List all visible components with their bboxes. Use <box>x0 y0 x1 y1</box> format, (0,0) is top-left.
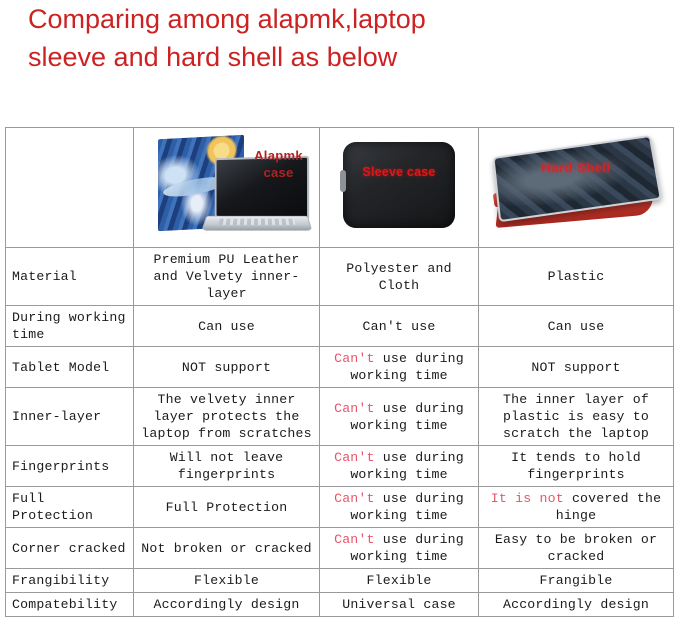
product-label-hardshell: Hard Shell <box>483 159 669 176</box>
table-cell: Accordingly design <box>134 593 320 617</box>
row-label: Corner cracked <box>6 528 134 569</box>
product-sleeve: Sleeve case <box>324 131 474 244</box>
table-row: During working timeCan useCan't useCan u… <box>6 306 674 347</box>
table-body: Alapmk case Sleeve case <box>6 128 674 617</box>
product-hardshell: Hard Shell <box>483 131 669 244</box>
table-cell: It is not covered the hinge <box>479 487 674 528</box>
table-row: Tablet ModelNOT supportCan't use during … <box>6 347 674 388</box>
table-cell: Can use <box>479 306 674 347</box>
table-cell: Can't use during working time <box>320 487 479 528</box>
table-cell: Flexible <box>134 569 320 593</box>
row-label: Fingerprints <box>6 446 134 487</box>
cell-emphasis: Can't <box>334 351 375 366</box>
header-cell-hardshell: Hard Shell <box>479 128 674 248</box>
cell-emphasis: Can't <box>334 401 375 416</box>
table-cell: NOT support <box>479 347 674 388</box>
table-row: Full ProtectionFull ProtectionCan't use … <box>6 487 674 528</box>
table-cell: Accordingly design <box>479 593 674 617</box>
row-label: During working time <box>6 306 134 347</box>
product-alapmk: Alapmk case <box>138 131 315 244</box>
cell-emphasis: Can't <box>334 532 375 547</box>
row-label: Compatebility <box>6 593 134 617</box>
table-cell: Premium PU Leather and Velvety inner-lay… <box>134 248 320 306</box>
hard-shell-tablet-icon <box>491 139 661 235</box>
table-cell: Can't use during working time <box>320 388 479 446</box>
table-row: FrangibilityFlexibleFlexibleFrangible <box>6 569 674 593</box>
table-cell: Can't use during working time <box>320 347 479 388</box>
table-cell: Can use <box>134 306 320 347</box>
table-header-row: Alapmk case Sleeve case <box>6 128 674 248</box>
cell-emphasis: It is not <box>491 491 564 506</box>
table-cell: Not broken or cracked <box>134 528 320 569</box>
row-label: Tablet Model <box>6 347 134 388</box>
table-row: MaterialPremium PU Leather and Velvety i… <box>6 248 674 306</box>
cell-emphasis: Can't <box>334 491 375 506</box>
table-row: Inner-layerThe velvety inner layer prote… <box>6 388 674 446</box>
header-cell-alapmk: Alapmk case <box>134 128 320 248</box>
table-cell: Can't use during working time <box>320 528 479 569</box>
sleeve-case-icon <box>343 142 455 228</box>
table-cell: Can't use during working time <box>320 446 479 487</box>
table-cell: Universal case <box>320 593 479 617</box>
page-title: Comparing among alapmk,laptop sleeve and… <box>28 0 648 76</box>
table-row: CompatebilityAccordingly designUniversal… <box>6 593 674 617</box>
table-cell: Easy to be broken or cracked <box>479 528 674 569</box>
cell-emphasis: Can't <box>334 450 375 465</box>
table-row: Corner crackedNot broken or crackedCan't… <box>6 528 674 569</box>
product-label-sleeve: Sleeve case <box>324 164 474 181</box>
table-row: FingerprintsWill not leave fingerprintsC… <box>6 446 674 487</box>
comparison-table: Alapmk case Sleeve case <box>5 127 674 617</box>
table-cell: Plastic <box>479 248 674 306</box>
row-label: Frangibility <box>6 569 134 593</box>
product-label-alapmk: Alapmk case <box>242 147 315 181</box>
table-cell: Polyester and Cloth <box>320 248 479 306</box>
header-cell-sleeve: Sleeve case <box>320 128 479 248</box>
header-spacer-cell <box>6 128 134 248</box>
table-cell: Can't use <box>320 306 479 347</box>
row-label: Inner-layer <box>6 388 134 446</box>
table-cell: It tends to hold fingerprints <box>479 446 674 487</box>
cell-text: covered the hinge <box>556 491 662 523</box>
table-cell: The velvety inner layer protects the lap… <box>134 388 320 446</box>
row-label: Material <box>6 248 134 306</box>
laptop-keyboard-icon <box>202 216 313 231</box>
table-cell: The inner layer of plastic is easy to sc… <box>479 388 674 446</box>
row-label: Full Protection <box>6 487 134 528</box>
table-cell: NOT support <box>134 347 320 388</box>
table-cell: Flexible <box>320 569 479 593</box>
table-cell: Frangible <box>479 569 674 593</box>
table-cell: Full Protection <box>134 487 320 528</box>
table-cell: Will not leave fingerprints <box>134 446 320 487</box>
comparison-page: Comparing among alapmk,laptop sleeve and… <box>0 0 679 635</box>
comparison-table-wrap: Alapmk case Sleeve case <box>5 127 673 617</box>
